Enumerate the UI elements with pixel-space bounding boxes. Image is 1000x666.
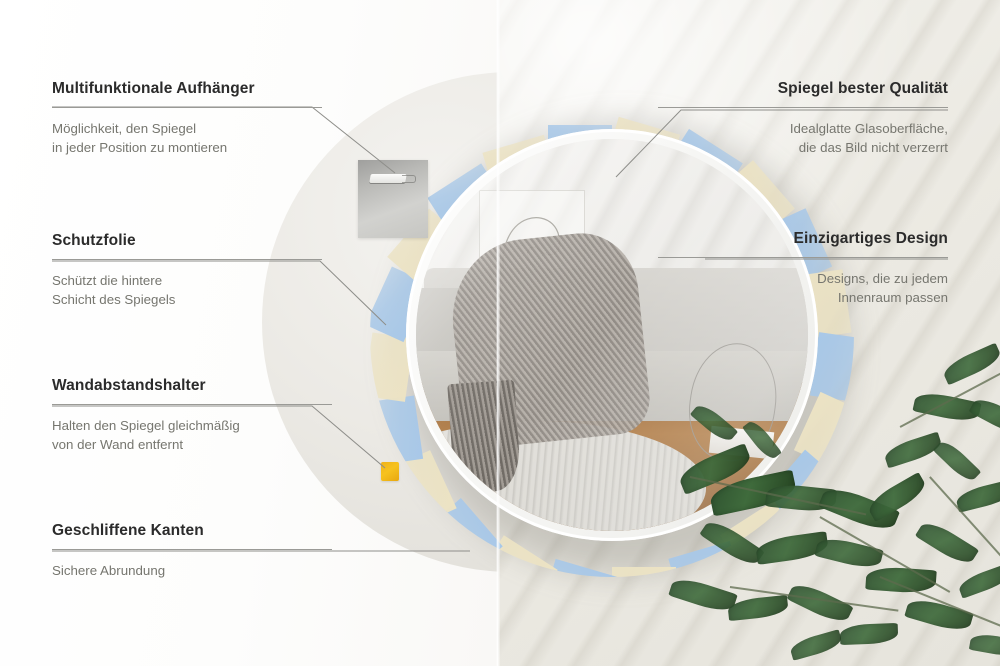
callout-schutzfolie: Schutzfolie Schützt die hintere Schicht …	[52, 232, 322, 309]
callout-description: Möglichkeit, den Spiegel in jeder Positi…	[52, 119, 322, 157]
callout-geschliffene-kanten: Geschliffene Kanten Sichere Abrundung	[52, 522, 332, 580]
callout-desc-line2: Schicht des Spiegels	[52, 292, 175, 307]
callout-rule	[52, 259, 322, 260]
callout-multifunktionale-aufhaenger: Multifunktionale Aufhänger Möglichkeit, …	[52, 80, 322, 157]
callout-description: Idealglatte Glasoberfläche, die das Bild…	[658, 119, 948, 157]
callout-title: Schutzfolie	[52, 232, 322, 250]
callout-rule	[658, 257, 948, 258]
infographic-canvas: Multifunktionale Aufhänger Möglichkeit, …	[0, 0, 1000, 666]
callout-desc-line1: Schützt die hintere	[52, 273, 162, 288]
callout-title: Wandabstandshalter	[52, 377, 332, 395]
callout-rule	[52, 549, 332, 550]
decor-leaf	[933, 437, 981, 485]
callout-description: Schützt die hintere Schicht des Spiegels	[52, 271, 322, 309]
callout-einzigartiges-design: Einzigartiges Design Designs, die zu jed…	[658, 230, 948, 307]
decor-leaf	[699, 516, 764, 570]
callout-desc-line1: Sichere Abrundung	[52, 563, 165, 578]
callout-wandabstandshalter: Wandabstandshalter Halten den Spiegel gl…	[52, 377, 332, 454]
callout-title: Geschliffene Kanten	[52, 522, 332, 540]
callout-title: Einzigartiges Design	[658, 230, 948, 248]
callout-description: Sichere Abrundung	[52, 561, 332, 580]
decor-leaf	[957, 563, 1000, 598]
callout-spiegel-bester-qualitaet: Spiegel bester Qualität Idealglatte Glas…	[658, 80, 948, 157]
callout-rule	[52, 107, 322, 108]
callout-desc-line1: Idealglatte Glasoberfläche,	[790, 121, 948, 136]
callout-desc-line1: Möglichkeit, den Spiegel	[52, 121, 196, 136]
callout-desc-line2: in jeder Position zu montieren	[52, 140, 227, 155]
callout-title: Spiegel bester Qualität	[658, 80, 948, 98]
callout-desc-line2: Innenraum passen	[838, 290, 948, 305]
callout-rule	[658, 107, 948, 108]
callout-title: Multifunktionale Aufhänger	[52, 80, 322, 98]
decor-leaf	[789, 629, 844, 661]
decor-leaf	[690, 401, 738, 446]
callout-desc-line1: Halten den Spiegel gleichmäßig	[52, 418, 240, 433]
decor-leaf	[954, 479, 1000, 512]
decor-leaf	[814, 534, 883, 571]
decor-leaf	[969, 632, 1000, 658]
callout-desc-line1: Designs, die zu jedem	[817, 271, 948, 286]
decor-leaf	[865, 566, 937, 595]
callout-desc-line2: die das Bild nicht verzerrt	[799, 140, 948, 155]
callout-description: Designs, die zu jedem Innenraum passen	[658, 269, 948, 307]
decor-leaf	[840, 623, 899, 645]
callout-rule	[52, 404, 332, 405]
decor-foliage	[670, 336, 1000, 666]
callout-description: Halten den Spiegel gleichmäßig von der W…	[52, 416, 332, 454]
callout-desc-line2: von der Wand entfernt	[52, 437, 183, 452]
decor-leaf	[915, 517, 979, 569]
